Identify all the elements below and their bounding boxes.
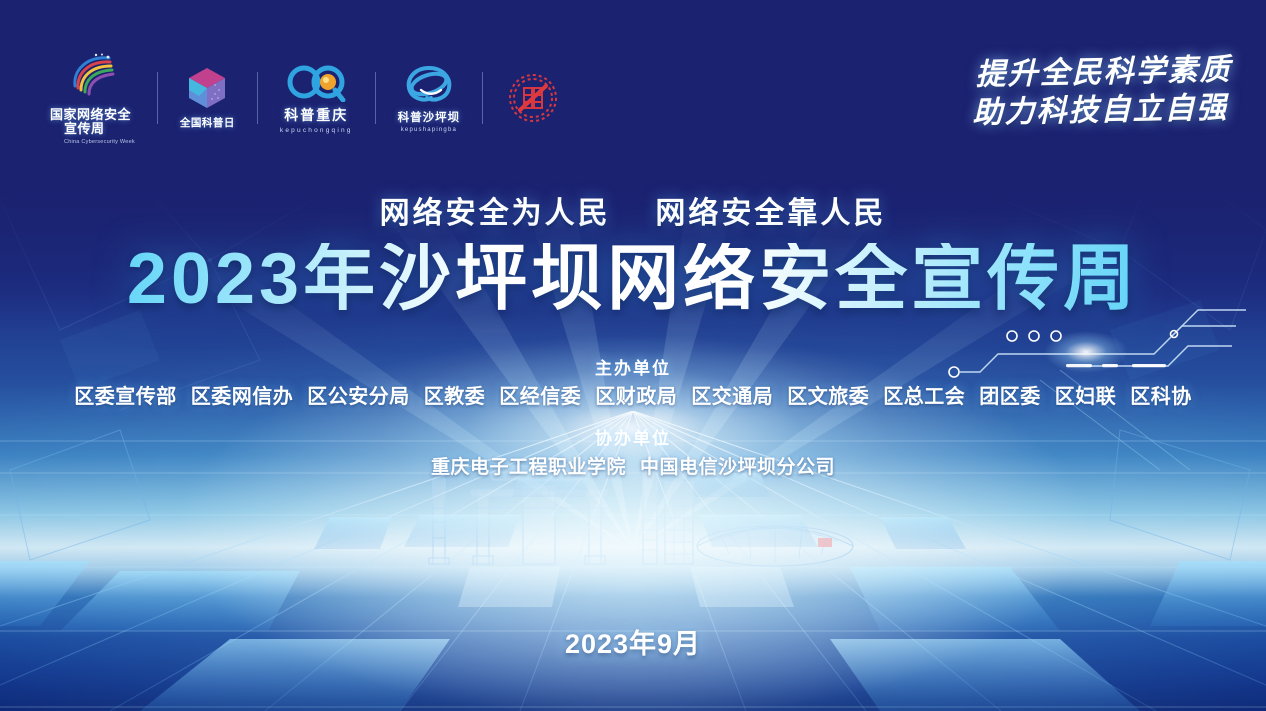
logo-kepu-chongqing: 科普重庆 kepuchongqing [258,50,375,145]
co-organizers-label: 协办单位 [0,424,1266,449]
organizers-list: 区委宣传部区委网信办区公安分局区教委区经信委区财政局区交通局区文旅委区总工会团区… [0,380,1266,409]
headline-part-2: 网络安全靠人民 [655,197,886,230]
slogan-line-2: 助力科技自立自强 [972,90,1233,134]
organizer-unit: 区委网信办 [191,386,294,408]
logo-label-line2: 宣传周 [50,122,105,136]
partner-logo-strip: 国家网络安全 宣传周 China Cybersecurity Week 全国科普… [28,50,583,145]
logo-kepu-shapingba: 科普沙坪坝 kepushapingba [376,50,483,145]
headline: 网络安全为人民 网络安全靠人民 [0,188,1266,232]
organizer-unit: 区妇联 [1055,386,1117,408]
organizer-unit: 区文旅委 [787,386,869,408]
organizer-unit: 区委宣传部 [74,386,177,408]
logo-label: 全国科普日 [180,115,235,130]
logo-national-science-day: 全国科普日 [158,50,257,145]
co-organizer-unit: 中国电信沙坪坝分公司 [640,457,835,478]
organizer-unit: 区教委 [424,386,486,408]
cq-monogram-icon [285,62,347,102]
event-date: 2023年9月 [0,622,1266,661]
logo-pinyin: kepushapingba [401,127,457,133]
logo-pinyin: kepuchongqing [280,127,353,134]
organizer-unit: 区财政局 [595,386,677,408]
co-organizer-unit: 重庆电子工程职业学院 [431,457,626,478]
organizer-unit: 区交通局 [691,386,773,408]
organizer-unit: 区经信委 [499,386,581,408]
co-organizers-list: 重庆电子工程职业学院中国电信沙坪坝分公司 [0,452,1266,479]
poster-canvas: 国家网络安全 宣传周 China Cybersecurity Week 全国科普… [0,0,1266,711]
organizer-unit: 团区委 [979,386,1041,408]
cybersecurity-swoosh-icon [69,50,115,102]
cube-icon [185,65,229,111]
headline-part-1: 网络安全为人民 [380,197,611,230]
logo-label: 科普沙坪坝 [398,109,461,125]
calligraphy-slogan: 提升全民科学素质 助力科技自立自强 [971,51,1233,133]
wreath-seal-icon [505,70,561,126]
organizer-unit: 区总工会 [883,386,965,408]
logo-red-seal-emblem [483,50,583,145]
organizer-unit: 区科协 [1130,386,1192,408]
logo-label: 科普重庆 [284,105,348,125]
logo-label-en: China Cybersecurity Week [50,139,135,145]
knot-icon [403,62,455,106]
organizers-label: 主办单位 [0,354,1266,379]
logo-national-cybersecurity-week: 国家网络安全 宣传周 China Cybersecurity Week [28,50,157,145]
slogan-line-1: 提升全民科学素质 [971,51,1232,95]
organizer-unit: 区公安分局 [307,386,410,408]
